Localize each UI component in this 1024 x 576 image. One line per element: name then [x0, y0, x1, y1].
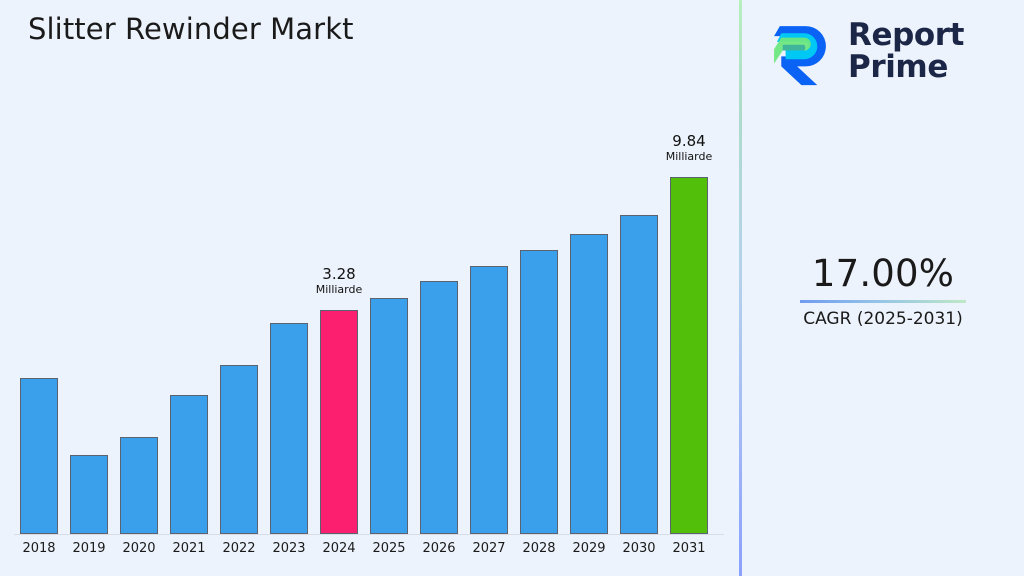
- bar-2026[interactable]: [420, 281, 458, 534]
- cagr-divider-rule: [800, 300, 966, 303]
- bar-value-number-2031: 9.84: [644, 134, 734, 150]
- bar-2019[interactable]: [70, 455, 108, 534]
- cagr-block: 17.00% CAGR (2025-2031): [742, 252, 1024, 329]
- bar-2021[interactable]: [170, 395, 208, 534]
- x-tick-label-2031: 2031: [659, 541, 719, 556]
- bar-value-unit-2024: Milliarde: [294, 284, 384, 296]
- brand-logo: Report Prime: [764, 12, 1010, 92]
- bar-2023[interactable]: [270, 323, 308, 534]
- bar-2025[interactable]: [370, 298, 408, 534]
- bar-2030[interactable]: [620, 215, 658, 534]
- brand-line-1: Report: [848, 20, 964, 52]
- bar-2028[interactable]: [520, 250, 558, 534]
- bar-2027[interactable]: [470, 266, 508, 534]
- report-infographic-page: Slitter Rewinder Markt 20182019202020212…: [0, 0, 1024, 576]
- brand-line-2: Prime: [848, 52, 964, 84]
- bar-2018[interactable]: [20, 378, 58, 534]
- bar-2031[interactable]: [670, 177, 708, 534]
- bar-2024[interactable]: [320, 310, 358, 534]
- bar-value-number-2024: 3.28: [294, 267, 384, 283]
- cagr-value: 17.00%: [742, 252, 1024, 295]
- chart-panel: Slitter Rewinder Markt 20182019202020212…: [0, 0, 740, 576]
- cagr-label: CAGR (2025-2031): [742, 309, 1024, 329]
- side-panel: Report Prime 17.00% CAGR (2025-2031): [742, 0, 1024, 576]
- x-axis-line: [14, 534, 724, 535]
- bar-value-unit-2031: Milliarde: [644, 151, 734, 163]
- brand-wordmark: Report Prime: [848, 20, 964, 83]
- report-prime-r-logo-icon: [764, 16, 836, 88]
- bar-chart-plot-area: 2018201920202021202220233.28Milliarde202…: [0, 0, 740, 576]
- bar-value-label-2024: 3.28Milliarde: [294, 267, 384, 295]
- bar-2022[interactable]: [220, 365, 258, 534]
- bar-value-label-2031: 9.84Milliarde: [644, 134, 734, 162]
- bar-2029[interactable]: [570, 234, 608, 534]
- bar-2020[interactable]: [120, 437, 158, 534]
